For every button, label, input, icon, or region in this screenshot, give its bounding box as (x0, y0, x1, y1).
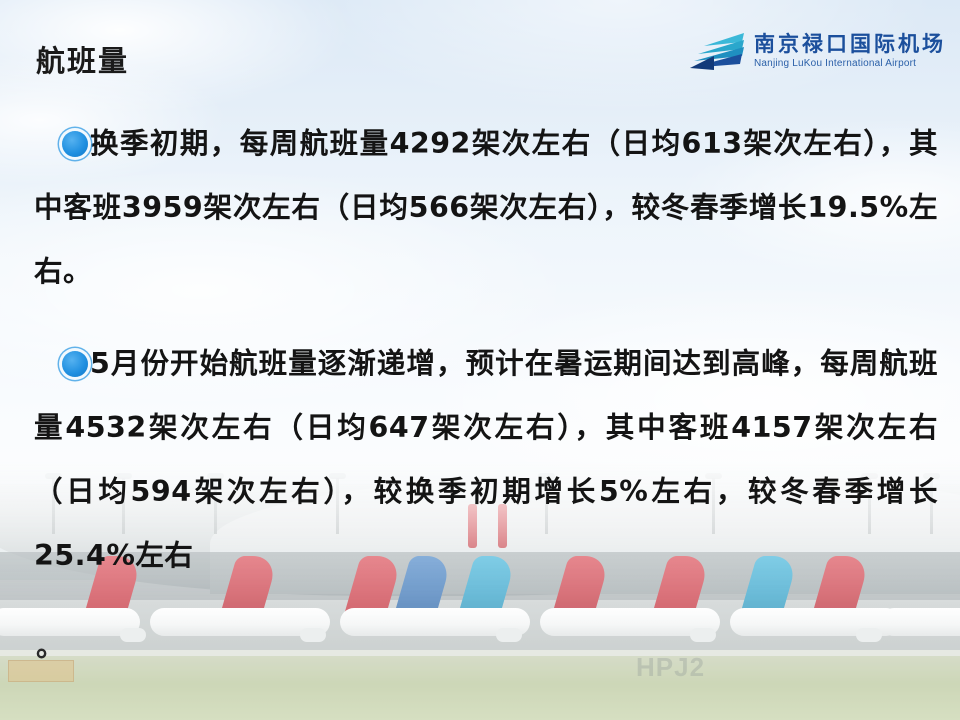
airport-logo: 南京禄口国际机场 Nanjing LuKou International Air… (684, 30, 946, 72)
blue-circle-bullet-icon (62, 351, 88, 377)
bullet-text-1: 换季初期，每周航班量4292架次左右（日均613架次左右），其中客班3959架次… (34, 127, 938, 288)
aircraft-engine (690, 628, 716, 642)
logo-text-block: 南京禄口国际机场 Nanjing LuKou International Air… (754, 34, 946, 69)
aircraft-engine (496, 628, 522, 642)
bullet-paragraph-1: 换季初期，每周航班量4292架次左右（日均613架次左右），其中客班3959架次… (0, 112, 960, 304)
airfield-grass (0, 656, 960, 720)
slide-body: 换季初期，每周航班量4292架次左右（日均613架次左右），其中客班3959架次… (0, 112, 960, 588)
blue-circle-bullet-icon (62, 131, 88, 157)
page-title: 航班量 (36, 38, 129, 80)
aircraft-engine (120, 628, 146, 642)
aircraft-engine (300, 628, 326, 642)
nanjing-lukou-swoosh-icon (684, 30, 746, 72)
bullet-paragraph-2: 5月份开始航班量逐渐递增，预计在暑运期间达到高峰，每周航班量4532架次左右（日… (0, 332, 960, 588)
aircraft-fuselage (0, 608, 140, 636)
bullet-text-2: 5月份开始航班量逐渐递增，预计在暑运期间达到高峰，每周航班量4532架次左右（日… (34, 347, 938, 572)
logo-name-cn: 南京禄口国际机场 (754, 34, 946, 55)
runway-marker-text: HPJ2 (636, 652, 705, 683)
aircraft-engine (856, 628, 882, 642)
presentation-slide: HPJ2 航班量 南京禄口国际机场 Nanjing LuKou Internat… (0, 0, 960, 720)
logo-name-en: Nanjing LuKou International Airport (754, 59, 946, 69)
trailing-period: 。 (36, 624, 65, 665)
aircraft-fuselage (880, 608, 960, 636)
